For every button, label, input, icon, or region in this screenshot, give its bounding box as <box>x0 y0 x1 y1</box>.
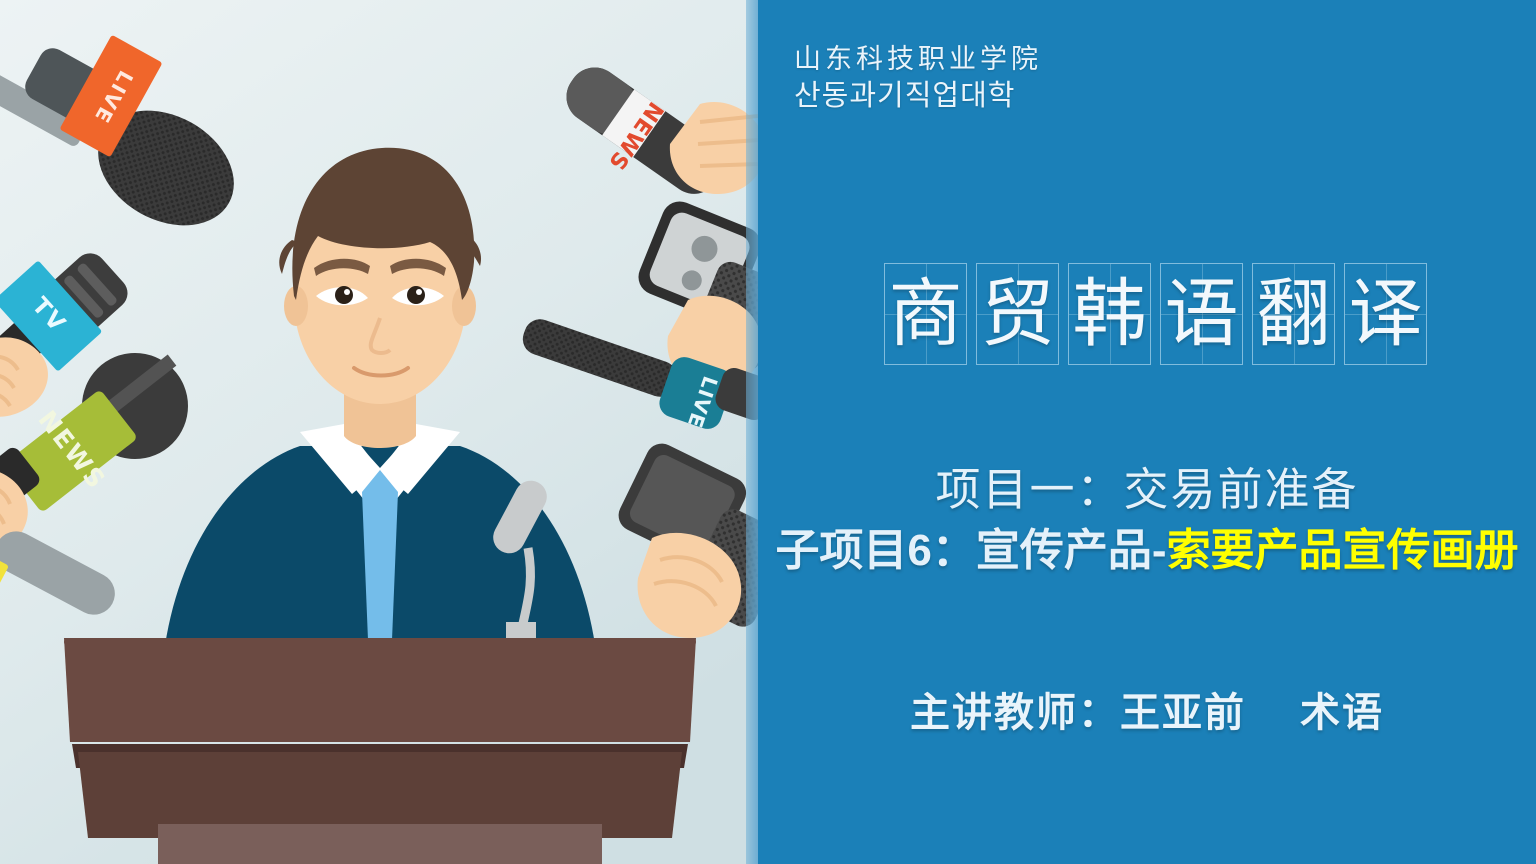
presenter-label: 主讲教师： <box>910 691 1120 735</box>
school-name-chinese: 山东科技职业学院 <box>794 44 1042 77</box>
podium <box>64 638 696 864</box>
title-char: 商 <box>889 277 963 351</box>
subtitle-block: 项目一：交易前准备 子项目6：宣传产品-索要产品宣传画册 <box>758 462 1536 579</box>
title-char-cell: 译 <box>1344 263 1427 365</box>
subproject-line: 子项目6：宣传产品-索要产品宣传画册 <box>758 522 1536 579</box>
title-char-cell: 贸 <box>976 263 1059 365</box>
title-char-cell: 语 <box>1160 263 1243 365</box>
title-char-cell: 翻 <box>1252 263 1335 365</box>
presenter-topic: 术语 <box>1300 691 1384 735</box>
title-char: 贸 <box>981 277 1055 351</box>
school-name-block: 山东科技职业学院 산동과기직업대학 <box>794 44 1042 114</box>
title-char: 翻 <box>1257 277 1331 351</box>
subproject-prefix: 子项目6：宣传产品- <box>775 526 1166 575</box>
title-char: 韩 <box>1073 277 1147 351</box>
presentation-slide: LIVE TV <box>0 0 1536 864</box>
school-name-korean: 산동과기직업대학 <box>794 79 1042 114</box>
presenter-name: 王亚前 <box>1120 691 1246 735</box>
subproject-highlight: 索要产品宣传画册 <box>1167 526 1519 575</box>
title-char: 语 <box>1165 277 1239 351</box>
title-char: 译 <box>1349 277 1423 351</box>
panel-edge-highlight <box>746 0 758 864</box>
press-conference-illustration: LIVE TV <box>0 0 758 864</box>
presenter-line: 主讲教师：王亚前术语 <box>758 680 1536 738</box>
title-char-cell: 商 <box>884 263 967 365</box>
course-title: 商 贸 韩 语 翻 译 <box>884 263 1427 365</box>
title-char-cell: 韩 <box>1068 263 1151 365</box>
project-line: 项目一：交易前准备 <box>758 462 1536 518</box>
